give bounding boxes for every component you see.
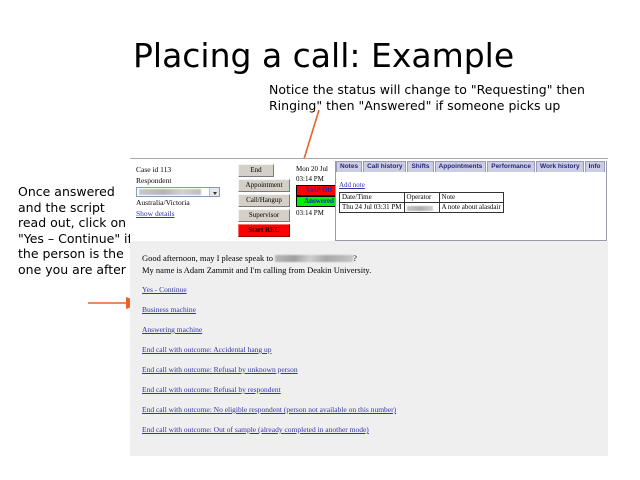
- app-toolbar-region: Case id 113 Respondent Australia/Victori…: [130, 159, 608, 241]
- outcome-link-refusal-respondent[interactable]: End call with outcome: Refusal by respon…: [142, 385, 281, 394]
- script-line-2: My name is Adam Zammit and I'm calling f…: [142, 265, 608, 277]
- respondent-label: Respondent: [136, 176, 228, 187]
- notes-panel: Notes Call history Shifts Appointments P…: [335, 161, 607, 241]
- call-action-buttons: End Appointment Call/Hangup Supervisor S…: [238, 164, 290, 239]
- add-note-link[interactable]: Add note: [339, 181, 365, 189]
- column-operator: Operator: [404, 193, 439, 203]
- script-text: Good afternoon, may I please speak to ? …: [142, 253, 608, 276]
- annotation-yes-continue-text: Once answered and the script read out, c…: [18, 184, 136, 277]
- script-line-1: Good afternoon, may I please speak to ?: [142, 253, 608, 265]
- tab-notes[interactable]: Notes: [336, 161, 362, 172]
- annotation-status-text: Notice the status will change to "Reques…: [269, 82, 599, 113]
- redacted-respondent-name: [139, 189, 201, 195]
- chevron-down-icon[interactable]: [209, 188, 219, 196]
- notes-table: Date/Time Operator Note Thu 24 Jul 03:31…: [339, 192, 504, 213]
- tab-call-history[interactable]: Call history: [363, 161, 406, 172]
- outcome-link-yes-continue[interactable]: Yes - Continue: [142, 285, 187, 294]
- call-hangup-button[interactable]: Call/Hangup: [238, 194, 290, 207]
- table-header-row: Date/Time Operator Note: [340, 193, 504, 203]
- respondent-select[interactable]: [136, 187, 220, 197]
- tab-appointments[interactable]: Appointments: [435, 161, 487, 172]
- column-note: Note: [439, 193, 503, 203]
- redacted-operator-name: [407, 206, 433, 211]
- cell-datetime: Thu 24 Jul 03:31 PM: [340, 203, 405, 213]
- tab-bar: Notes Call history Shifts Appointments P…: [336, 161, 606, 172]
- case-id-label: Case id 113: [136, 165, 228, 176]
- start-rec-button[interactable]: Start REC: [238, 224, 290, 237]
- notes-body: Add note Date/Time Operator Note Thu 24 …: [336, 172, 606, 215]
- application-screenshot: Case id 113 Respondent Australia/Victori…: [130, 158, 608, 456]
- supervisor-button[interactable]: Supervisor: [238, 209, 290, 222]
- cell-operator: [404, 203, 439, 213]
- case-info-panel: Case id 113 Respondent Australia/Victori…: [136, 165, 228, 219]
- end-button[interactable]: End: [238, 164, 274, 177]
- tab-performance[interactable]: Performance: [487, 161, 535, 172]
- redacted-respondent-name-inline: [275, 255, 353, 262]
- outcome-link-answering-machine[interactable]: Answering machine: [142, 325, 202, 334]
- outcome-links-list: Yes - Continue Business machine Answerin…: [142, 285, 608, 434]
- tab-info[interactable]: Info: [585, 161, 605, 172]
- script-line-1-before: Good afternoon, may I please speak to: [142, 253, 275, 263]
- tab-shifts[interactable]: Shifts: [407, 161, 433, 172]
- script-line-1-after: ?: [353, 253, 357, 263]
- show-details-link[interactable]: Show details: [136, 209, 175, 218]
- appointment-button[interactable]: Appointment: [238, 179, 290, 192]
- outcome-link-no-eligible-respondent[interactable]: End call with outcome: No eligible respo…: [142, 405, 396, 414]
- script-region: Good afternoon, may I please speak to ? …: [130, 241, 608, 456]
- outcome-link-refusal-unknown-person[interactable]: End call with outcome: Refusal by unknow…: [142, 365, 298, 374]
- outcome-link-business-machine[interactable]: Business machine: [142, 305, 196, 314]
- column-datetime: Date/Time: [340, 193, 405, 203]
- tab-work-history[interactable]: Work history: [536, 161, 584, 172]
- outcome-link-accidental-hang-up[interactable]: End call with outcome: Accidental hang u…: [142, 345, 272, 354]
- timezone-label: Australia/Victoria: [136, 198, 228, 209]
- table-row[interactable]: Thu 24 Jul 03:31 PM A note about alasdai…: [340, 203, 504, 213]
- page-title: Placing a call: Example: [133, 36, 514, 75]
- outcome-link-out-of-sample[interactable]: End call with outcome: Out of sample (al…: [142, 425, 369, 434]
- cell-note: A note about alasdair: [439, 203, 503, 213]
